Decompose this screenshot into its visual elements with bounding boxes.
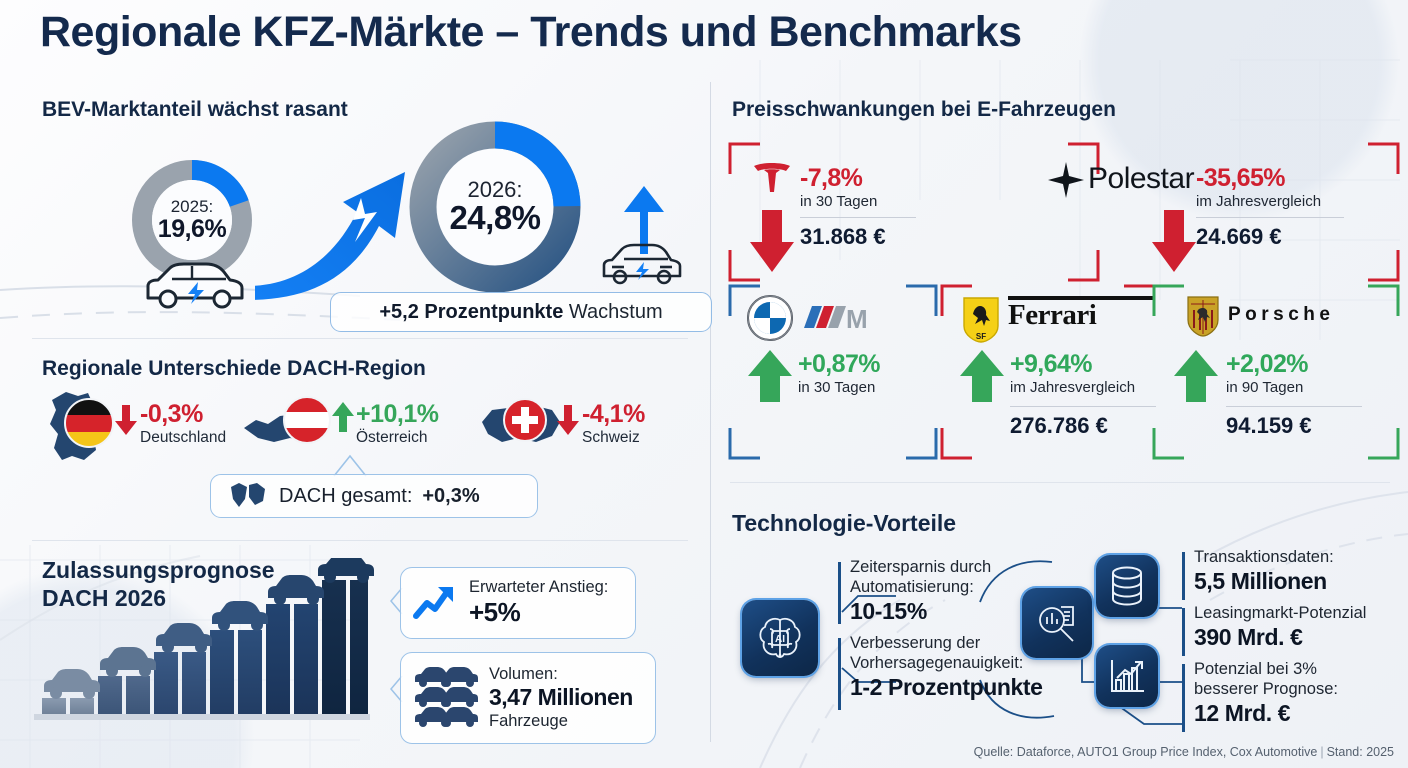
section-title-dach: Regionale Unterschiede DACH-Region xyxy=(42,357,426,381)
section-title-prices: Preisschwankungen bei E-Fahrzeugen xyxy=(732,98,1116,122)
tech-tick-right-2 xyxy=(1182,608,1185,656)
brand-pct-bmw: +0,87% xyxy=(798,350,880,379)
donut-2026-year: 2026: xyxy=(467,178,522,201)
dach-total-label: DACH gesamt: xyxy=(279,485,412,508)
tech-label-2a: Verbesserung der xyxy=(850,634,1043,654)
dach-value-schweiz: -4,1% xyxy=(582,400,645,429)
section-title-tech: Technologie-Vorteile xyxy=(732,510,956,537)
brand-price-porsche: 94.159 € xyxy=(1226,413,1362,439)
svg-text:SF: SF xyxy=(976,332,986,341)
down-arrow-icon xyxy=(555,403,581,437)
page-title: Regionale KFZ-Märkte – Trends und Benchm… xyxy=(40,8,1022,57)
car-icon xyxy=(156,623,212,653)
down-arrow-icon xyxy=(748,208,796,274)
dach-label-deutschland: Deutschland xyxy=(140,429,226,447)
brand-card-polestar: -35,65% im Jahresvergleich 24.669 € xyxy=(1196,164,1344,250)
up-arrow-icon xyxy=(330,400,356,434)
bmw-m-logo-icon: M xyxy=(802,304,876,332)
porsche-logo-icon xyxy=(1186,294,1220,338)
callout-volumen: Volumen: 3,47 Millionen Fahrzeuge xyxy=(400,652,656,744)
tech-item-leasingmarkt: Leasingmarkt-Potenzial 390 Mrd. € xyxy=(1194,604,1366,651)
tech-value-4: 390 Mrd. € xyxy=(1194,624,1366,652)
brand-price-polestar: 24.669 € xyxy=(1196,224,1344,250)
source-footer: Quelle: Dataforce, AUTO1 Group Price Ind… xyxy=(974,745,1394,759)
polestar-wordmark: Polestar xyxy=(1088,162,1194,196)
donut-2026: 2026: 24,8% xyxy=(404,116,586,298)
tech-tick-left-1 xyxy=(838,562,841,624)
brand-card-bmw: +0,87% in 30 Tagen xyxy=(798,350,880,396)
ferrari-wordmark-text: Ferrari xyxy=(1008,300,1154,330)
brand-pct-tesla: -7,8% xyxy=(800,164,916,193)
flag-germany-icon xyxy=(64,398,114,448)
growth-value: +5,2 xyxy=(379,301,418,324)
car-icon xyxy=(100,647,156,677)
cars-fleet-icon xyxy=(413,666,479,730)
down-arrow-icon xyxy=(1150,208,1198,274)
source-date: Stand: 2025 xyxy=(1327,745,1394,759)
growth-unit: Prozentpunkte xyxy=(424,301,563,324)
tech-label-5a: Potenzial bei 3% xyxy=(1194,660,1338,680)
down-arrow-icon xyxy=(113,403,139,437)
brand-pct-ferrari: +9,64% xyxy=(1010,350,1156,379)
brand-rule-polestar xyxy=(1196,217,1344,218)
ai-brain-icon: AI xyxy=(742,600,818,676)
bar-chart-zulassungen xyxy=(34,558,374,726)
porsche-wordmark: Porsche xyxy=(1228,304,1334,326)
brand-period-bmw: in 30 Tagen xyxy=(798,379,880,396)
growth-pill: +5,2 Prozentpunkte Wachstum xyxy=(330,292,712,332)
donut-2025-value: 19,6% xyxy=(158,216,226,242)
brand-rule-ferrari xyxy=(1010,406,1156,407)
vertical-divider xyxy=(710,82,711,742)
brand-period-ferrari: im Jahresvergleich xyxy=(1010,379,1156,396)
donut-2025-year: 2025: xyxy=(171,198,214,216)
svg-text:M: M xyxy=(846,304,868,332)
callout-value-volumen: 3,47 Millionen xyxy=(489,684,633,711)
car-icon xyxy=(212,601,268,631)
electric-car-icon xyxy=(598,240,686,288)
flag-switzerland-icon xyxy=(503,398,547,442)
trend-up-arrow-icon xyxy=(413,583,459,623)
callout-erwarteter-anstieg: Erwarteter Anstieg: +5% xyxy=(400,567,636,639)
tech-value-1: 10-15% xyxy=(850,598,991,626)
source-text: Quelle: Dataforce, AUTO1 Group Price Ind… xyxy=(974,745,1318,759)
growth-suffix: Wachstum xyxy=(569,301,663,324)
tech-value-5: 12 Mrd. € xyxy=(1194,700,1338,728)
source-separator: | xyxy=(1317,745,1326,759)
up-arrow-icon xyxy=(746,348,794,404)
dach-value-oesterreich: +10,1% xyxy=(356,400,439,429)
tech-item-transaktionsdaten: Transaktionsdaten: 5,5 Millionen xyxy=(1194,548,1334,595)
up-arrow-icon xyxy=(958,348,1006,404)
callout-label-volumen: Volumen: xyxy=(489,665,633,684)
map-dach-icon xyxy=(229,481,269,511)
section-title-bev: BEV-Marktanteil wächst rasant xyxy=(42,98,348,122)
brand-period-tesla: in 30 Tagen xyxy=(800,193,916,210)
dach-item-oesterreich: +10,1% Österreich xyxy=(356,400,439,447)
dach-total-value: +0,3% xyxy=(422,485,479,508)
divider-right-1 xyxy=(730,482,1390,483)
brand-pct-porsche: +2,02% xyxy=(1226,350,1362,379)
brand-period-polestar: im Jahresvergleich xyxy=(1196,193,1344,210)
dach-item-schweiz: -4,1% Schweiz xyxy=(582,400,645,447)
tech-tick-right-1 xyxy=(1182,552,1185,600)
growth-arrow-icon xyxy=(255,150,425,300)
tech-label-2b: Vorhersagegenauigkeit: xyxy=(850,654,1043,674)
brand-rule-porsche xyxy=(1226,406,1362,407)
svg-text:AI: AI xyxy=(775,634,785,645)
flag-austria-icon xyxy=(283,396,331,444)
donut-2026-value: 24,8% xyxy=(449,201,540,236)
dach-item-deutschland: -0,3% Deutschland xyxy=(140,400,226,447)
callout-label-anstieg: Erwarteter Anstieg: xyxy=(469,578,608,597)
tech-item-vorhersage: Verbesserung der Vorhersagegenauigkeit: … xyxy=(850,634,1043,701)
brand-rule-tesla xyxy=(800,217,916,218)
tech-tick-left-2 xyxy=(838,638,841,710)
tech-label-5b: besserer Prognose: xyxy=(1194,680,1338,700)
dach-total-badge: DACH gesamt: +0,3% xyxy=(210,474,538,518)
dach-label-schweiz: Schweiz xyxy=(582,429,645,447)
dach-value-deutschland: -0,3% xyxy=(140,400,226,429)
callout-value-anstieg: +5% xyxy=(469,597,608,628)
tech-value-2: 1-2 Prozentpunkte xyxy=(850,674,1043,702)
car-icon xyxy=(318,558,374,583)
ferrari-logo-icon: SF xyxy=(962,294,1000,344)
polestar-logo-icon xyxy=(1048,162,1084,198)
tech-label-1b: Automatisierung: xyxy=(850,578,991,598)
ferrari-wordmark: Ferrari xyxy=(1008,296,1154,330)
tech-item-zeitersparnis: Zeitersparnis durch Automatisierung: 10-… xyxy=(850,558,991,625)
car-icon xyxy=(268,575,324,605)
brand-price-ferrari: 276.786 € xyxy=(1010,413,1156,439)
tech-label-1a: Zeitersparnis durch xyxy=(850,558,991,578)
brand-period-porsche: in 90 Tagen xyxy=(1226,379,1362,396)
dach-label-oesterreich: Österreich xyxy=(356,429,439,447)
tech-label-3a: Transaktionsdaten: xyxy=(1194,548,1334,568)
brand-price-tesla: 31.868 € xyxy=(800,224,916,250)
bar-chart-growth-icon xyxy=(1096,645,1158,707)
tech-value-3: 5,5 Millionen xyxy=(1194,568,1334,596)
callout-sub-volumen: Fahrzeuge xyxy=(489,712,633,731)
divider-left-1 xyxy=(32,338,688,339)
tesla-logo-icon xyxy=(750,160,794,194)
up-arrow-icon xyxy=(1172,348,1220,404)
brand-card-tesla: -7,8% in 30 Tagen 31.868 € xyxy=(800,164,916,250)
electric-car-icon xyxy=(140,258,250,312)
brand-card-porsche: +2,02% in 90 Tagen 94.159 € xyxy=(1226,350,1362,439)
database-icon xyxy=(1096,555,1158,617)
bmw-logo-icon xyxy=(746,294,794,342)
brand-pct-polestar: -35,65% xyxy=(1196,164,1344,193)
car-icon xyxy=(44,669,100,699)
tech-tick-right-3 xyxy=(1182,664,1185,732)
divider-left-2 xyxy=(32,540,688,541)
tech-label-4a: Leasingmarkt-Potenzial xyxy=(1194,604,1366,624)
brand-card-ferrari: +9,64% im Jahresvergleich 276.786 € xyxy=(1010,350,1156,439)
tech-item-potenzial: Potenzial bei 3% besserer Prognose: 12 M… xyxy=(1194,660,1338,727)
